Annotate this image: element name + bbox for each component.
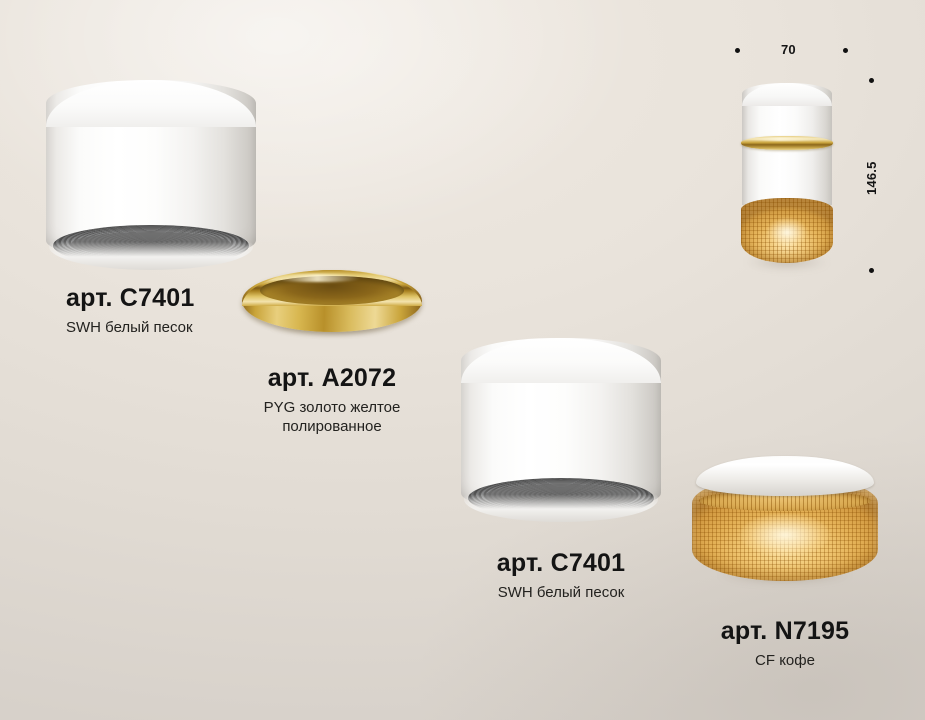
caption-a2072: арт. A2072 PYG золото желтое полированно… — [252, 365, 412, 437]
dimension-dot-width-right — [843, 48, 848, 53]
caption-description-line-1: PYG золото желтое — [252, 398, 412, 418]
caption-article-line: арт. N7195 — [692, 618, 878, 646]
ribbed-reflector-ring — [468, 478, 654, 518]
caption-n7195: арт. N7195 CF кофе — [692, 618, 878, 670]
article-prefix: арт. — [268, 364, 315, 392]
caption-article-line: арт. C7401 — [461, 550, 661, 578]
article-prefix: арт. — [497, 549, 544, 577]
article-code: C7401 — [120, 284, 195, 312]
product-composition-canvas: арт. C7401 SWH белый песок арт. A2072 PY… — [0, 0, 925, 720]
product-image-a2072-ring — [242, 270, 422, 332]
diffuser-center-glow — [740, 514, 829, 557]
caption-description: CF кофе — [692, 651, 878, 671]
ribbed-reflector-ring — [53, 225, 248, 266]
product-image-c7401-middle — [461, 338, 661, 512]
lamp-center-glow — [767, 218, 807, 247]
article-prefix: арт. — [66, 284, 113, 312]
caption-c7401-middle: арт. C7401 SWH белый песок — [461, 550, 661, 602]
dimension-label-width: 70 — [781, 42, 796, 57]
product-image-assembled-lamp — [742, 83, 832, 263]
caption-article-line: арт. A2072 — [252, 365, 412, 393]
caption-c7401-top-left: арт. C7401 SWH белый песок — [66, 285, 194, 337]
article-code: N7195 — [775, 617, 850, 645]
article-prefix: арт. — [721, 617, 768, 645]
dimension-label-height: 146.5 — [864, 161, 879, 195]
article-code: A2072 — [322, 364, 397, 392]
white-mounting-ring — [696, 456, 875, 496]
caption-description-line-2: полированное — [252, 417, 412, 437]
product-image-c7401-top-left — [46, 80, 256, 260]
lamp-gold-ring-band — [741, 136, 833, 150]
caption-article-line: арт. C7401 — [66, 285, 194, 313]
dimension-dot-height-bottom — [869, 268, 874, 273]
caption-description: SWH белый песок — [66, 318, 194, 338]
caption-description: PYG золото желтое полированное — [252, 398, 412, 438]
dimension-dot-height-top — [869, 78, 874, 83]
dimension-dot-width-left — [735, 48, 740, 53]
caption-description: SWH белый песок — [461, 583, 661, 603]
product-image-n7195-diffuser — [692, 456, 878, 581]
article-code: C7401 — [551, 549, 626, 577]
